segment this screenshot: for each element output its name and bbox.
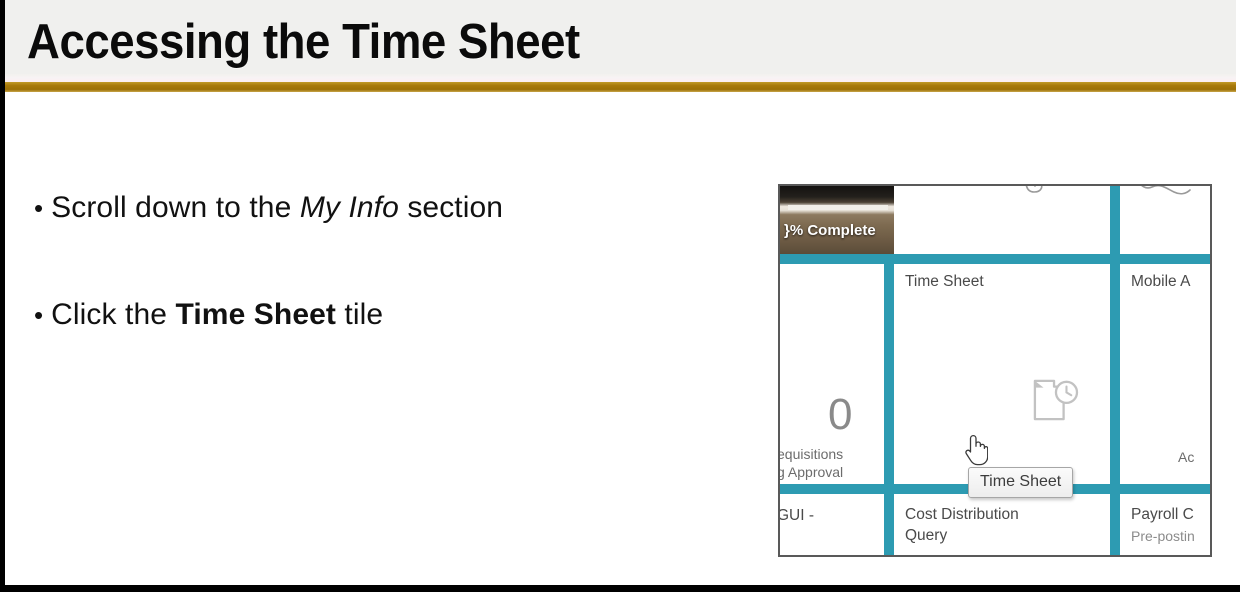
tile-mobile-a-footnote: Ac [1178,448,1194,466]
tile-partial-top-right[interactable] [1120,186,1210,254]
tooltip: Time Sheet [968,467,1073,498]
slide: Accessing the Time Sheet • Scroll down t… [0,0,1240,592]
bullet-text-post: section [399,191,503,224]
tile-partial-top-middle[interactable] [894,186,1110,254]
tile-payroll[interactable]: Payroll C Pre-postin [1120,494,1210,555]
title-band-gradient [0,74,1240,82]
embedded-screenshot: }% Complete 0 equisitions g Approval Tim… [778,184,1212,557]
fiori-tile-grid: }% Complete 0 equisitions g Approval Tim… [780,186,1210,555]
document-clock-icon [1030,378,1080,422]
tile-percent-complete[interactable]: }% Complete [780,186,894,254]
tile-cost-distribution-query[interactable]: Cost Distribution Query [894,494,1110,555]
progress-bar [788,205,888,210]
tile-gutter-vertical-right [1110,186,1120,555]
slide-frame-bottom [0,585,1240,592]
tile-cost-distribution-title-line2: Query [905,526,1106,546]
tile-mobile-a-title: Mobile A [1131,272,1206,292]
page-title: Accessing the Time Sheet [27,13,580,71]
list-item: • Click the Time Sheet tile [34,295,734,335]
tile-gui-title: GUI - [780,506,880,526]
requisitions-count: 0 [828,392,852,438]
bullet-text-pre: Click the [51,298,175,331]
pointing-hand-cursor-icon [962,432,988,466]
requisitions-line-2: g Approval [780,463,843,481]
percent-complete-label: }% Complete [784,222,876,240]
tile-cost-distribution-title: Cost Distribution [905,505,1106,525]
partial-icon-top-middle [1022,186,1062,206]
tile-requisitions[interactable]: 0 equisitions g Approval [780,264,884,484]
tile-gui[interactable]: GUI - [780,494,884,555]
bullet-text: Scroll down to the My Info section [51,188,503,228]
list-item: • Scroll down to the My Info section [34,188,734,228]
bullet-text: Click the Time Sheet tile [51,295,383,335]
tile-payroll-title: Payroll C [1131,505,1206,525]
bullet-marker-icon: • [34,188,43,228]
partial-icon-top-right [1130,186,1192,204]
slide-frame-left [0,0,5,592]
title-accent-rule [0,82,1240,92]
tile-gutter-horizontal-top [780,254,1210,264]
slide-frame-right [1236,0,1240,592]
tile-mobile-a[interactable]: Mobile A Ac [1120,264,1210,484]
bullet-text-post: tile [336,298,383,331]
tile-time-sheet-title: Time Sheet [905,272,1106,292]
bullet-text-emphasis: Time Sheet [175,298,336,331]
bullet-text-pre: Scroll down to the [51,191,300,224]
tile-time-sheet[interactable]: Time Sheet [894,264,1110,484]
bullet-list: • Scroll down to the My Info section • C… [34,188,734,402]
bullet-text-emphasis: My Info [300,191,399,224]
requisitions-line-1: equisitions [780,445,843,463]
tile-payroll-subtitle: Pre-postin [1131,527,1195,545]
bullet-marker-icon: • [34,295,43,335]
